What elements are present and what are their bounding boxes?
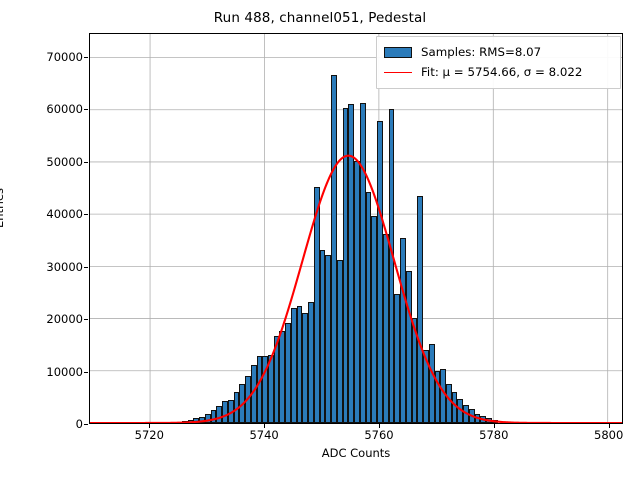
x-axis-tick: 5760 <box>339 428 419 442</box>
x-axis-label: ADC Counts <box>89 446 623 460</box>
y-axis-tick: 40000 <box>5 207 83 221</box>
x-axis-tick: 5720 <box>109 428 189 442</box>
x-axis-tick-mark <box>379 424 380 428</box>
y-axis-tick-mark <box>84 214 88 215</box>
y-axis-tick: 60000 <box>5 102 83 116</box>
y-axis-tick: 70000 <box>5 50 83 64</box>
y-axis-tick: 50000 <box>5 155 83 169</box>
y-axis-tick-mark <box>84 57 88 58</box>
y-axis-tick: 30000 <box>5 260 83 274</box>
x-axis-tick-mark <box>149 424 150 428</box>
x-axis-tick: 5740 <box>224 428 304 442</box>
legend-label-samples: Samples: RMS=8.07 <box>421 45 541 59</box>
y-axis-tick-mark <box>84 319 88 320</box>
y-axis-tick-mark <box>84 424 88 425</box>
y-axis-tick-mark <box>84 162 88 163</box>
legend: Samples: RMS=8.07 Fit: μ = 5754.66, σ = … <box>376 36 621 89</box>
x-axis-tick: 5800 <box>569 428 640 442</box>
legend-line-icon <box>384 72 412 73</box>
y-axis-tick: 20000 <box>5 312 83 326</box>
y-axis-tick-mark <box>84 267 88 268</box>
matplotlib-figure: Run 488, channel051, Pedestal 0100002000… <box>0 0 640 480</box>
legend-patch-icon <box>384 47 412 58</box>
page-title: Run 488, channel051, Pedestal <box>0 10 640 26</box>
legend-label-fit: Fit: μ = 5754.66, σ = 8.022 <box>421 65 582 79</box>
legend-item-samples: Samples: RMS=8.07 <box>384 42 613 62</box>
x-axis-tick-mark <box>609 424 610 428</box>
y-axis-tick-mark <box>84 109 88 110</box>
plot-area <box>89 33 623 424</box>
x-axis-tick: 5780 <box>454 428 534 442</box>
y-axis-label: Entries <box>0 188 6 228</box>
y-axis-tick-mark <box>84 372 88 373</box>
y-axis-tick-labels: 010000200003000040000500006000070000 <box>0 0 83 480</box>
y-axis-tick: 10000 <box>5 365 83 379</box>
legend-item-fit: Fit: μ = 5754.66, σ = 8.022 <box>384 62 613 82</box>
x-axis-tick-mark <box>264 424 265 428</box>
x-axis-tick-mark <box>494 424 495 428</box>
y-axis-tick: 0 <box>5 417 83 431</box>
gaussian-fit-curve <box>90 34 622 423</box>
